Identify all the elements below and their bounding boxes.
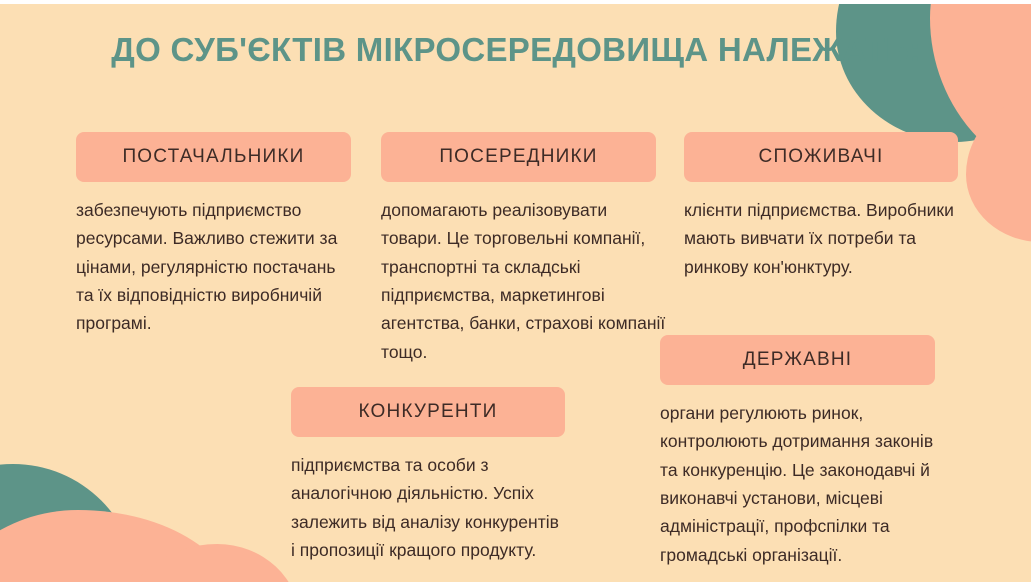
salmon-blob-bottom-left-lobe-icon (120, 544, 300, 582)
block-body-suppliers: забезпечують підприємство ресурсами. Важ… (76, 196, 356, 338)
block-body-state: органи регулюють ринок, контролюють дотр… (660, 399, 940, 569)
block-heading-consumers: СПОЖИВАЧІ (684, 132, 958, 182)
block-intermediaries: ПОСЕРЕДНИКИ допомагають реалізовувати то… (381, 132, 656, 366)
slide: ДО СУБ'ЄКТІВ МІКРОСЕРЕДОВИЩА НАЛЕЖАТЬ: П… (0, 0, 1031, 582)
block-body-consumers: клієнти підприємства. Виробники мають ви… (684, 196, 962, 281)
teal-blob-bottom-left-icon (0, 464, 138, 582)
block-consumers: СПОЖИВАЧІ клієнти підприємства. Виробник… (684, 132, 958, 281)
block-suppliers: ПОСТАЧАЛЬНИКИ забезпечують підприємство … (76, 132, 351, 338)
block-heading-suppliers: ПОСТАЧАЛЬНИКИ (76, 132, 351, 182)
block-competitors: КОНКУРЕНТИ підприємства та особи з анало… (291, 387, 565, 564)
block-body-competitors: підприємства та особи з аналогічною діял… (291, 451, 561, 564)
block-heading-intermediaries: ПОСЕРЕДНИКИ (381, 132, 656, 182)
block-body-intermediaries: допомагають реалізовувати товари. Це тор… (381, 196, 671, 366)
page-title: ДО СУБ'ЄКТІВ МІКРОСЕРЕДОВИЩА НАЛЕЖАТЬ: (96, 30, 936, 70)
block-heading-state: ДЕРЖАВНІ (660, 335, 935, 385)
salmon-blob-bottom-left-icon (0, 510, 240, 582)
block-heading-competitors: КОНКУРЕНТИ (291, 387, 565, 437)
slide-background: ДО СУБ'ЄКТІВ МІКРОСЕРЕДОВИЩА НАЛЕЖАТЬ: П… (0, 4, 1031, 582)
block-state: ДЕРЖАВНІ органи регулюють ринок, контрол… (660, 335, 935, 569)
teal-blob-top-right-icon (836, 4, 1031, 142)
salmon-blob-top-right-lobe-icon (966, 92, 1031, 242)
